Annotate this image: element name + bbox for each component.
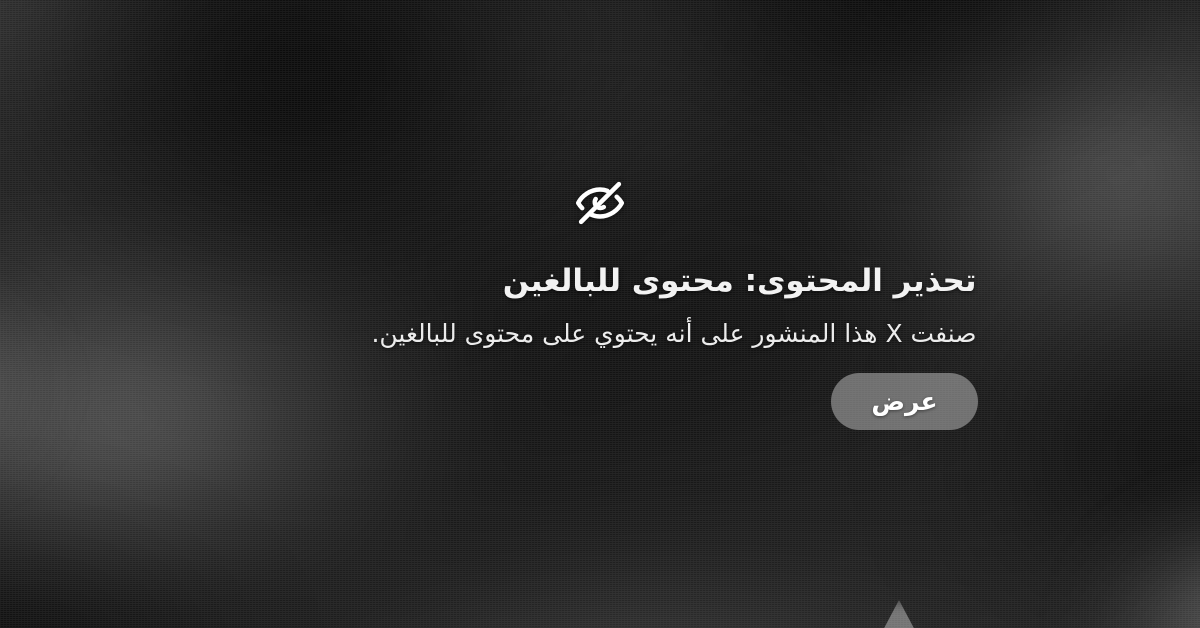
warning-content-column: تحذير المحتوى: محتوى للبالغين صنفت X هذا… bbox=[222, 176, 978, 431]
view-content-button[interactable]: عرض bbox=[831, 373, 978, 430]
content-warning-overlay: تحذير المحتوى: محتوى للبالغين صنفت X هذا… bbox=[0, 0, 1200, 628]
warning-title: تحذير المحتوى: محتوى للبالغين bbox=[221, 262, 980, 302]
warning-action-row: عرض bbox=[222, 373, 978, 430]
eye-off-icon bbox=[573, 176, 627, 230]
warning-description: صنفت X هذا المنشور على أنه يحتوي على محت… bbox=[221, 317, 980, 351]
content-warning-screen: تحذير المحتوى: محتوى للبالغين صنفت X هذا… bbox=[0, 0, 1200, 628]
